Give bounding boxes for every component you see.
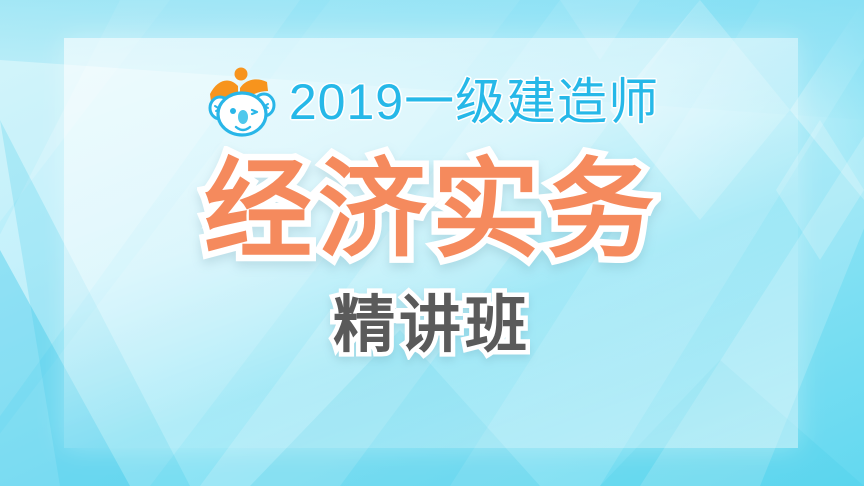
course-main-title: 经济实务	[204, 152, 660, 269]
brand-row: 2019一级建造师	[205, 64, 659, 140]
brand-title: 2019一级建造师	[289, 77, 659, 127]
banner-content: 2019一级建造师 经济实务 精讲班	[0, 0, 864, 486]
koala-book-logo-icon	[205, 64, 279, 140]
course-banner: 2019一级建造师 经济实务 精讲班	[0, 0, 864, 486]
course-sub-title: 精讲班	[333, 295, 531, 357]
